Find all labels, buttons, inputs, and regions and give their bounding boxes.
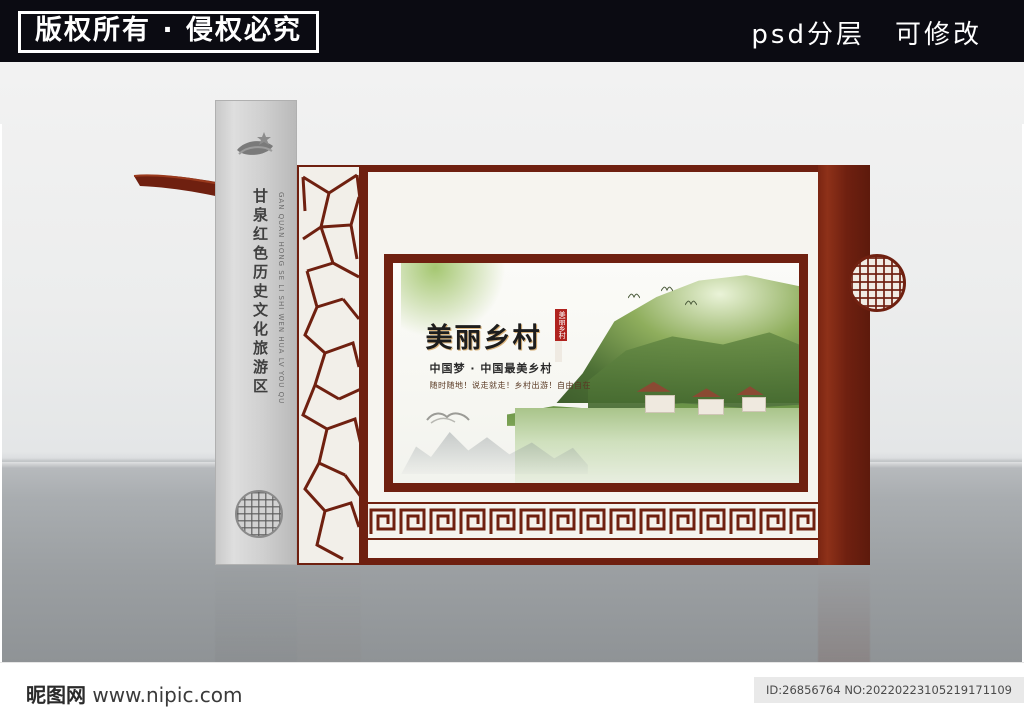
copyright-badge: 版权所有 · 侵权必究 xyxy=(18,11,319,53)
stone-pillar-vertical-text: 甘泉红色历史文化旅游区 xyxy=(243,188,269,397)
village-house-2 xyxy=(698,399,724,415)
top-watermark-bar: 版权所有 · 侵权必究 psd分层可修改 xyxy=(0,0,1024,62)
cloud-ornament-svg xyxy=(425,408,473,424)
stone-pillar-english-text: GAN QUAN HONG SE LI SHI WEN HUA LV YOU Q… xyxy=(277,192,285,422)
greek-key-border-band xyxy=(368,502,823,540)
poster-window: 美丽乡村 美丽乡村 中国梦 · 中国最美乡村 随时随地！说走就走！乡村出游！自由… xyxy=(384,254,808,492)
right-brown-pillar xyxy=(818,165,870,565)
right-lattice-circle xyxy=(848,254,906,312)
bird-icon xyxy=(685,292,697,299)
poster-subtitle: 中国梦 · 中国最美乡村 xyxy=(430,360,553,376)
cloud-ornament xyxy=(425,408,473,424)
screenshot-root: 版权所有 · 侵权必究 psd分层可修改 xyxy=(0,0,1024,724)
star-mountain-emblem xyxy=(233,124,277,166)
greek-key-svg xyxy=(368,504,823,538)
asset-id-label: ID:26856764 NO:20220223105219171109 xyxy=(754,677,1024,703)
product-mockup-scene: 甘泉红色历史文化旅游区 GAN QUAN HONG SE LI SHI WEN … xyxy=(0,62,1024,662)
stone-lattice-circle xyxy=(235,490,283,538)
poster-tagline: 随时随地！说走就走！乡村出游！自由自在 xyxy=(430,380,592,391)
site-url: www.nipic.com xyxy=(92,683,242,707)
village-house-3 xyxy=(742,397,766,412)
crackle-pattern-svg xyxy=(299,167,361,565)
editable-label: 可修改 xyxy=(895,20,982,50)
village-house-1 xyxy=(645,395,675,413)
bird-icon xyxy=(661,278,673,285)
psd-layered-label: psd分层 xyxy=(751,20,865,50)
emblem-svg xyxy=(233,124,277,166)
bird-icon xyxy=(628,285,640,292)
poster-title: 美丽乡村 xyxy=(425,316,541,355)
poster-artwork: 美丽乡村 美丽乡村 中国梦 · 中国最美乡村 随时随地！说走就走！乡村出游！自由… xyxy=(393,263,799,483)
psd-layered-note: psd分层可修改 xyxy=(751,14,982,51)
bottom-watermark-bar: 昵图网 www.nipic.com ID:26856764 NO:2022022… xyxy=(0,662,1024,724)
site-name-cn: 昵图网 xyxy=(26,683,86,707)
left-gutter xyxy=(0,124,2,724)
poster-seal: 美丽乡村 xyxy=(555,309,567,341)
site-branding: 昵图网 www.nipic.com xyxy=(26,679,243,708)
stone-pillar: 甘泉红色历史文化旅游区 GAN QUAN HONG SE LI SHI WEN … xyxy=(215,100,297,565)
crackle-lattice-panel xyxy=(297,165,361,565)
